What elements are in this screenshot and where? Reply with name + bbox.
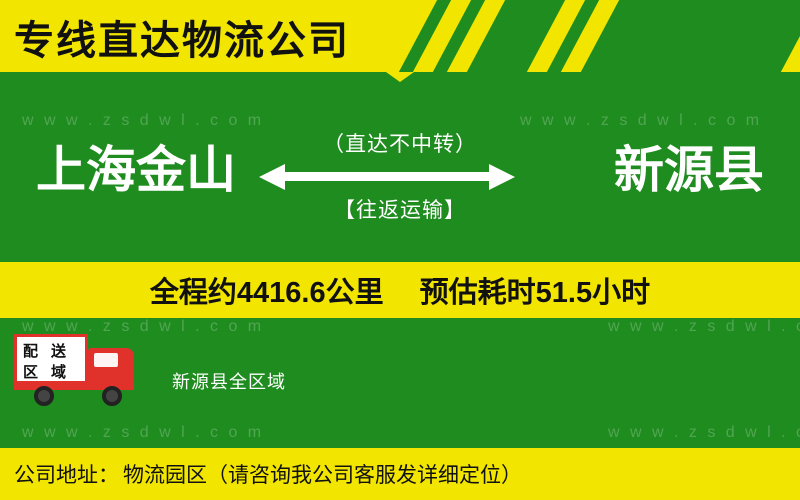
origin-city: 上海金山	[36, 130, 236, 202]
coverage-area: 新源县全区域	[172, 368, 286, 394]
address-label: 公司地址：	[14, 459, 119, 489]
route-arrow-icon	[285, 164, 515, 190]
watermark: w w w . z s d w l . c o m	[22, 424, 264, 442]
destination-city: 新源县	[614, 130, 764, 202]
chevron-down-icon	[370, 72, 430, 106]
watermark: w w w . z s d w l . c o m	[608, 424, 800, 442]
round-trip-note: 【往返运输】	[270, 194, 530, 224]
truck-cab	[88, 348, 134, 384]
truck-wheel	[102, 386, 122, 406]
logistics-banner: 专线直达物流公司 w w w . z s d w l . c o m w w w…	[0, 0, 800, 500]
address-value: 物流园区（请咨询我公司客服发详细定位）	[123, 459, 522, 489]
cargo-box: 配 送 区 域	[14, 334, 88, 384]
page-title: 专线直达物流公司	[14, 8, 350, 66]
cargo-char-3: 区	[23, 361, 38, 382]
header-stripe-5	[581, 0, 800, 72]
footer-address: 公司地址： 物流园区（请咨询我公司客服发详细定位）	[0, 448, 800, 500]
watermark: w w w . z s d w l . c o m	[608, 318, 800, 336]
direct-note: （直达不中转）	[270, 128, 530, 158]
cargo-char-4: 域	[51, 361, 66, 382]
distance-info: 全程约4416.6公里 预估耗时51.5小时	[0, 262, 800, 318]
total-distance: 全程约4416.6公里	[150, 269, 384, 311]
route-block: 上海金山 新源县 （直达不中转） 【往返运输】	[0, 110, 800, 270]
cargo-char-1: 配	[23, 340, 38, 361]
truck-wheel	[34, 386, 54, 406]
header-stripe-3	[467, 0, 565, 72]
estimated-duration: 预估耗时51.5小时	[420, 269, 650, 311]
cargo-char-2: 送	[51, 340, 66, 361]
delivery-truck-icon: 配 送 区 域	[10, 330, 160, 410]
route-middle: （直达不中转） 【往返运输】	[270, 110, 530, 224]
